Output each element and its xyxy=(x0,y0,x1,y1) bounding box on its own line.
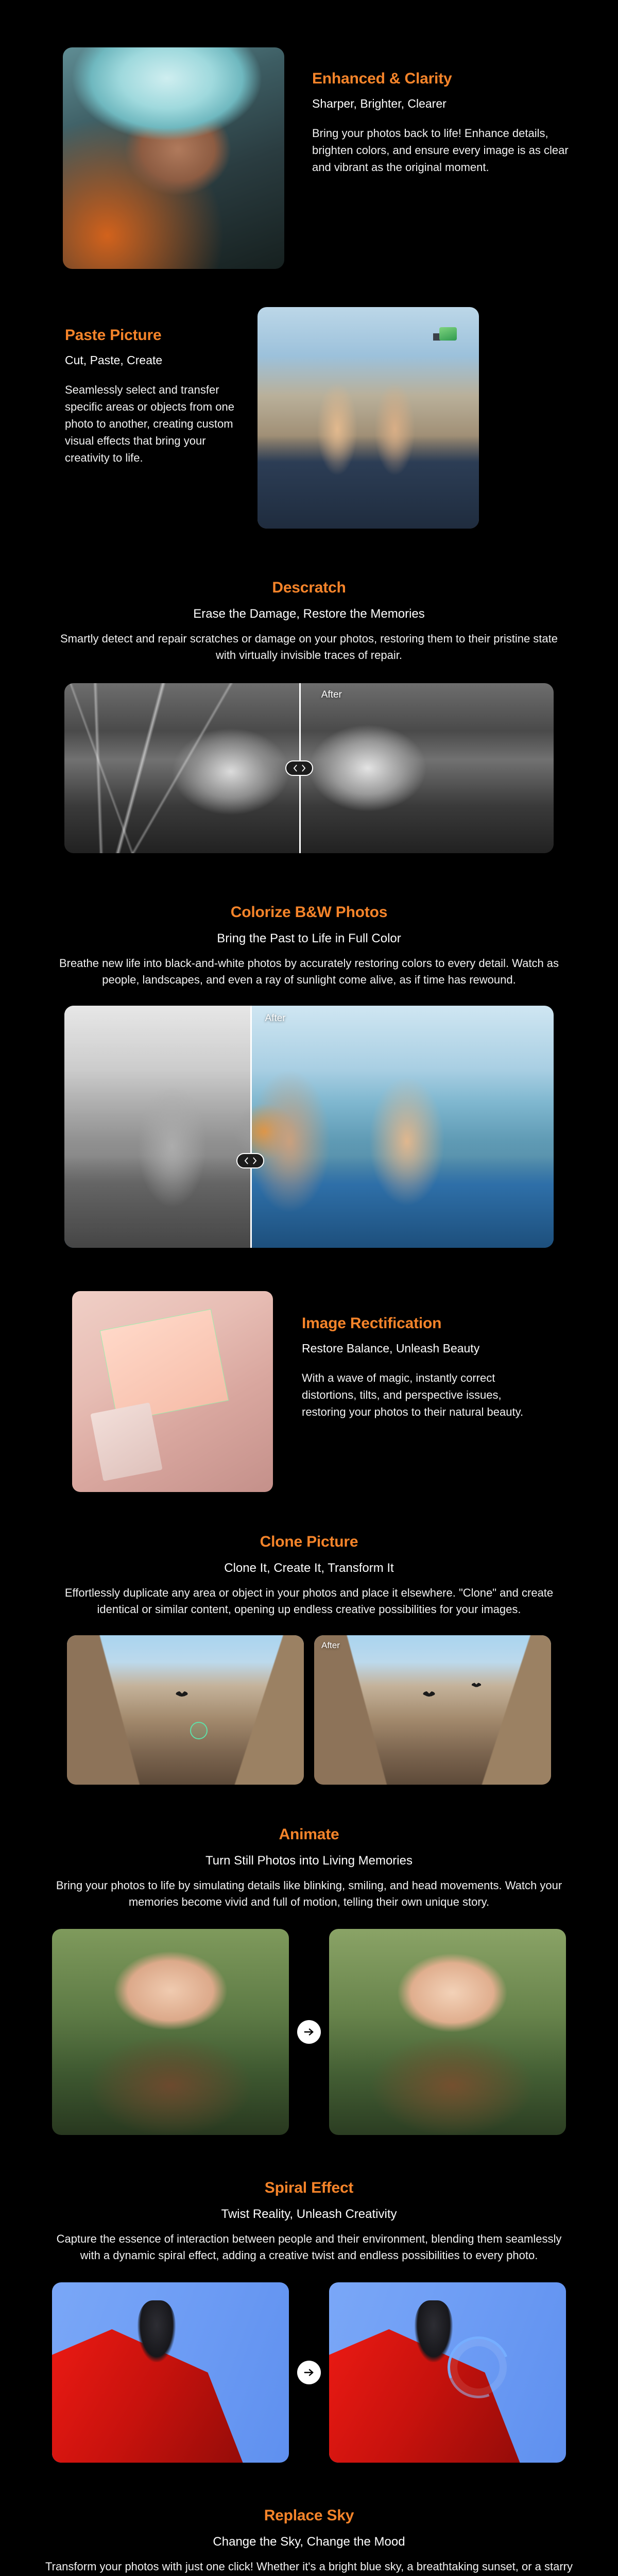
spiral-source-image xyxy=(52,2282,289,2463)
section-spiral-effect: Spiral Effect Twist Reality, Unleash Cre… xyxy=(0,2135,618,2463)
feature-description: Bring your photos to life by simulating … xyxy=(41,1877,577,1910)
chevron-right-icon xyxy=(301,765,306,772)
feature-description: Smartly detect and repair scratches or d… xyxy=(49,631,569,664)
feature-title: Image Rectification xyxy=(302,1314,546,1333)
feature-description: Effortlessly duplicate any area or objec… xyxy=(44,1585,574,1618)
animate-result-image xyxy=(329,1929,566,2135)
before-after-handle[interactable] xyxy=(236,1153,264,1168)
feature-subtitle: Erase the Damage, Restore the Memories xyxy=(0,606,618,622)
feature-description: Capture the essence of interaction betwe… xyxy=(49,2231,569,2264)
section-paste-picture: Paste Picture Cut, Paste, Create Seamles… xyxy=(0,269,618,529)
section-enhanced-clarity: Enhanced & Clarity Sharper, Brighter, Cl… xyxy=(0,0,618,269)
chevron-left-icon xyxy=(244,1157,249,1164)
feature-subtitle: Turn Still Photos into Living Memories xyxy=(0,1853,618,1869)
feature-title: Clone Picture xyxy=(0,1532,618,1552)
feature-title: Enhanced & Clarity xyxy=(312,69,579,89)
feature-title: Colorize B&W Photos xyxy=(0,903,618,922)
section-colorize-bw: Colorize B&W Photos Bring the Past to Li… xyxy=(0,853,618,1248)
descratch-before-after-viewer[interactable]: After xyxy=(64,683,554,853)
feature-subtitle: Restore Balance, Unleash Beauty xyxy=(302,1341,546,1356)
before-after-handle[interactable] xyxy=(285,760,313,776)
chevron-left-icon xyxy=(293,765,298,772)
feature-title: Paste Picture xyxy=(65,326,240,345)
section-image-rectification: Image Rectification Restore Balance, Unl… xyxy=(0,1248,618,1492)
before-after-divider[interactable] xyxy=(250,1006,252,1248)
animate-source-image xyxy=(52,1929,289,2135)
feature-subtitle: Twist Reality, Unleash Creativity xyxy=(0,2206,618,2223)
spiral-result-image xyxy=(329,2282,566,2463)
chevron-right-icon xyxy=(252,1157,257,1164)
feature-description: Seamlessly select and transfer specific … xyxy=(65,381,240,466)
feature-title: Descratch xyxy=(0,578,618,598)
section-replace-sky: Replace Sky Change the Sky, Change the M… xyxy=(0,2463,618,2576)
feature-subtitle: Change the Sky, Change the Mood xyxy=(0,2534,618,2550)
paste-picture-copy: Paste Picture Cut, Paste, Create Seamles… xyxy=(0,307,257,466)
section-descratch: Descratch Erase the Damage, Restore the … xyxy=(0,529,618,853)
clone-after-image: After xyxy=(314,1635,551,1785)
section-animate: Animate Turn Still Photos into Living Me… xyxy=(0,1785,618,2135)
image-rectification-copy: Image Rectification Restore Balance, Unl… xyxy=(273,1291,618,1420)
portrait-image xyxy=(63,47,284,269)
clone-before-image xyxy=(67,1635,304,1785)
enhanced-clarity-media xyxy=(63,47,284,269)
desk-flatlay-image xyxy=(72,1291,273,1492)
feature-title: Spiral Effect xyxy=(0,2178,618,2198)
feature-title: Animate xyxy=(0,1825,618,1844)
feature-subtitle: Clone It, Create It, Transform It xyxy=(0,1560,618,1577)
feature-description: Bring your photos back to life! Enhance … xyxy=(312,125,579,176)
transform-arrow-icon xyxy=(297,2361,321,2384)
feature-subtitle: Bring the Past to Life in Full Color xyxy=(0,930,618,947)
feature-description: Transform your photos with just one clic… xyxy=(44,2558,574,2576)
colorize-before-after-viewer[interactable]: After xyxy=(64,1006,554,1248)
feature-subtitle: Cut, Paste, Create xyxy=(65,352,240,368)
transform-arrow-icon xyxy=(297,2020,321,2044)
after-badge: After xyxy=(321,689,342,701)
wall-pair-image xyxy=(257,307,479,529)
spiral-overlay xyxy=(438,2327,519,2408)
after-badge: After xyxy=(321,1640,340,1651)
image-rectification-media xyxy=(72,1291,273,1492)
clone-selection-ring[interactable] xyxy=(190,1722,208,1739)
after-badge: After xyxy=(265,1013,286,1024)
section-clone-picture: Clone Picture Clone It, Create It, Trans… xyxy=(0,1492,618,1785)
feature-description: With a wave of magic, instantly correct … xyxy=(302,1369,546,1420)
feature-description: Breathe new life into black-and-white ph… xyxy=(46,955,572,988)
feature-showcase-page: Enhanced & Clarity Sharper, Brighter, Cl… xyxy=(0,0,618,2576)
paste-picture-media xyxy=(257,307,479,529)
feature-subtitle: Sharper, Brighter, Clearer xyxy=(312,96,579,111)
enhanced-clarity-copy: Enhanced & Clarity Sharper, Brighter, Cl… xyxy=(284,47,618,176)
feature-title: Replace Sky xyxy=(0,2506,618,2526)
